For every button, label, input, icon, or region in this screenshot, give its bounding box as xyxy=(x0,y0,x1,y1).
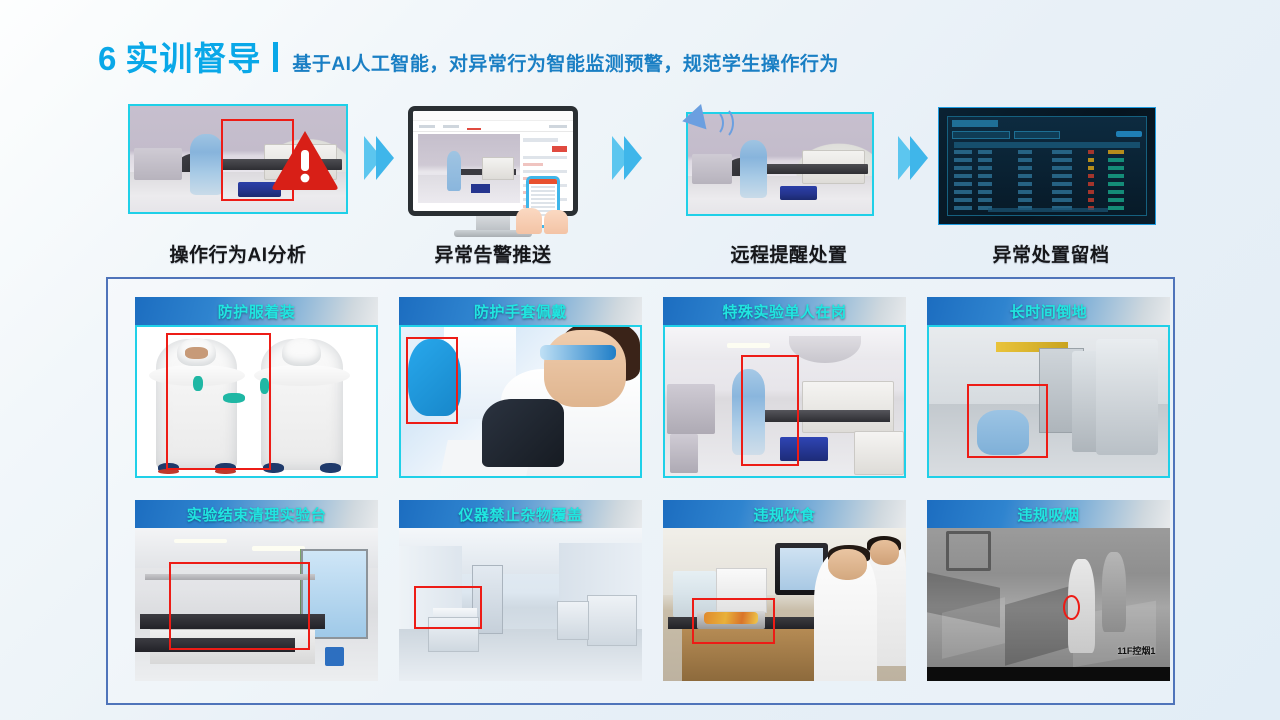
flow-caption-4: 异常处置留档 xyxy=(938,240,1164,267)
person-background xyxy=(1102,552,1126,632)
archive-dashboard xyxy=(938,107,1156,225)
chevron-right-double-icon xyxy=(624,136,642,180)
suit-right xyxy=(261,339,342,470)
table-row xyxy=(954,166,1140,171)
page-title: 实训督导 xyxy=(125,42,261,75)
chair xyxy=(946,531,991,571)
dashboard-inner xyxy=(947,116,1147,216)
card-header: 违规饮食 xyxy=(663,500,906,528)
card-label: 违规吸烟 xyxy=(1017,504,1079,525)
hand-icon xyxy=(516,208,542,234)
card-label: 仪器禁止杂物覆盖 xyxy=(458,504,582,525)
detection-box xyxy=(169,562,310,651)
detection-box xyxy=(967,384,1048,459)
ceiling-light xyxy=(727,343,770,347)
card-label: 防护手套佩戴 xyxy=(474,301,567,322)
title-divider xyxy=(273,42,278,72)
violation-card-smoking[interactable]: 违规吸烟 11F控烟1 xyxy=(927,500,1170,681)
instrument-cabinet-2 xyxy=(854,431,904,475)
card-header: 特殊实验单人在岗 xyxy=(663,297,906,325)
card-image xyxy=(135,528,378,681)
table-row xyxy=(954,158,1140,163)
shoe xyxy=(320,463,341,472)
page-header: 6 实训督导 基于AI人工智能，对异常行为智能监测预警，规范学生操作行为 xyxy=(98,40,839,75)
tank-large xyxy=(1096,339,1158,455)
detection-box xyxy=(741,355,798,465)
camera-label: 11F控烟1 xyxy=(1117,644,1155,657)
detection-box xyxy=(414,586,482,629)
section-number: 6 xyxy=(98,42,116,75)
card-header: 防护服着装 xyxy=(135,297,378,325)
left-equipment xyxy=(692,154,732,184)
bench xyxy=(758,164,868,174)
stool xyxy=(325,647,344,665)
flow-step-3[interactable]: 远程提醒处置 xyxy=(686,104,892,269)
dashboard-title-bar xyxy=(952,120,998,127)
detection-box xyxy=(406,337,459,423)
table-row xyxy=(954,198,1140,203)
flow-step-4[interactable]: 异常处置留档 xyxy=(938,104,1164,269)
flow-arrow-3 xyxy=(898,136,928,180)
card-label: 防护服着装 xyxy=(218,301,296,322)
card-image xyxy=(135,325,378,478)
detection-box xyxy=(1063,595,1080,619)
violation-types-panel: 防护服着装 xyxy=(106,277,1175,705)
table-row xyxy=(954,182,1140,187)
card-image xyxy=(663,528,906,681)
violation-card-cleanup[interactable]: 实验结束清理实验台 xyxy=(135,500,378,681)
face xyxy=(544,330,625,407)
table-row xyxy=(954,190,1140,195)
card-header: 长时间倒地 xyxy=(927,297,1170,325)
cabinet-right xyxy=(587,595,638,646)
chevron-right-double-icon xyxy=(376,136,394,180)
process-flow: 操作行为AI分析 xyxy=(0,104,1280,269)
ceiling-light xyxy=(174,539,227,544)
flow-caption-3: 远程提醒处置 xyxy=(686,240,892,267)
violation-card-eating[interactable]: 违规饮食 xyxy=(663,500,906,681)
browser-topbar xyxy=(413,111,573,121)
ai-analysis-photo xyxy=(128,104,348,214)
card-label: 实验结束清理实验台 xyxy=(187,504,327,525)
floor-tile xyxy=(1005,586,1073,667)
card-label: 违规饮食 xyxy=(753,504,815,525)
instrument-cabinet xyxy=(802,381,895,434)
cctv-smoking-scene: 11F控烟1 xyxy=(927,528,1170,681)
page-subtitle: 基于AI人工智能，对异常行为智能监测预警，规范学生操作行为 xyxy=(292,55,839,74)
card-image xyxy=(399,528,642,681)
video-preview xyxy=(418,134,520,203)
violation-card-fallen[interactable]: 长时间倒地 xyxy=(927,297,1170,478)
card-header: 违规吸烟 xyxy=(927,500,1170,528)
card-header: 防护手套佩戴 xyxy=(399,297,642,325)
pagination[interactable] xyxy=(988,208,1108,212)
phone-appbar xyxy=(529,179,557,184)
left-equipment xyxy=(667,384,715,435)
left-equipment xyxy=(134,148,182,180)
microscope xyxy=(482,399,563,468)
detection-box xyxy=(166,333,271,470)
table-row xyxy=(954,174,1140,179)
ceiling-light xyxy=(252,546,305,551)
flow-step-1[interactable]: 操作行为AI分析 xyxy=(128,104,348,269)
violation-card-instrument-clutter[interactable]: 仪器禁止杂物覆盖 xyxy=(399,500,642,681)
table-header xyxy=(954,142,1140,148)
flow-arrow-2 xyxy=(612,136,642,180)
speaker-icon xyxy=(680,104,707,134)
card-image xyxy=(663,325,906,478)
fallen-person-scene xyxy=(929,327,1168,476)
blue-cart xyxy=(780,186,817,200)
head xyxy=(870,540,899,564)
card-label: 特殊实验单人在岗 xyxy=(722,301,846,322)
violation-card-single-person[interactable]: 特殊实验单人在岗 xyxy=(663,297,906,478)
flow-arrow-1 xyxy=(364,136,394,180)
violation-card-protective-suit[interactable]: 防护服着装 xyxy=(135,297,378,478)
site-nav xyxy=(413,121,573,132)
cabinet-right-2 xyxy=(557,601,588,640)
card-header: 仪器禁止杂物覆盖 xyxy=(399,500,642,528)
card-image xyxy=(399,325,642,478)
head xyxy=(828,549,867,580)
hand-icon xyxy=(544,210,568,234)
flow-caption-2: 异常告警推送 xyxy=(398,240,588,267)
card-label: 长时间倒地 xyxy=(1010,301,1088,322)
person xyxy=(740,140,768,198)
black-strip xyxy=(927,667,1170,681)
detection-box xyxy=(692,598,775,644)
card-header: 实验结束清理实验台 xyxy=(135,500,378,528)
table-row xyxy=(954,150,1140,155)
card-image: 11F控烟1 xyxy=(927,528,1170,681)
card-image xyxy=(927,325,1170,478)
warning-triangle-icon xyxy=(270,128,340,192)
person xyxy=(190,134,222,195)
left-equipment-2 xyxy=(670,434,699,473)
violation-card-gloves[interactable]: 防护手套佩戴 xyxy=(399,297,642,478)
flow-step-2[interactable]: 异常告警推送 xyxy=(398,104,588,269)
speaker-wave-icon xyxy=(708,106,734,140)
violation-grid: 防护服着装 xyxy=(135,297,1170,681)
flow-caption-1: 操作行为AI分析 xyxy=(128,240,348,267)
chevron-right-double-icon xyxy=(910,136,928,180)
hood xyxy=(282,338,321,367)
safety-goggles xyxy=(540,345,616,360)
